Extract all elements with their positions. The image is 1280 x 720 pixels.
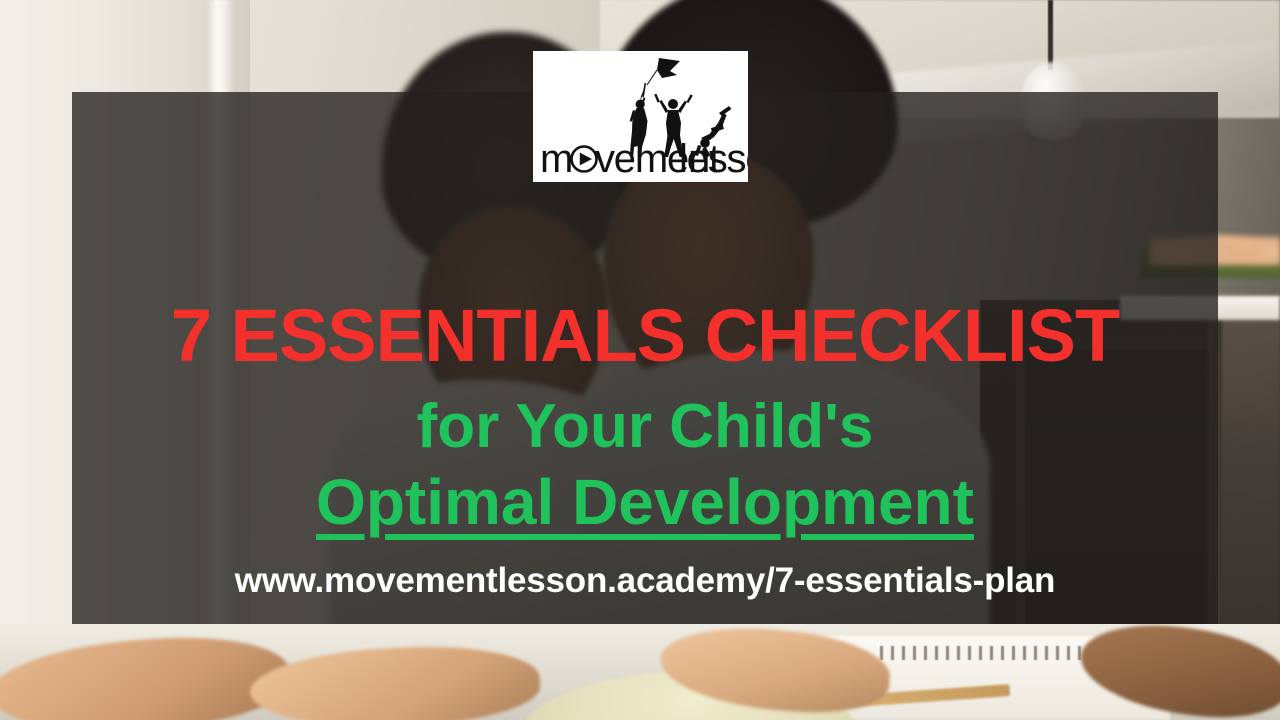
kitchen-cabinet-right xyxy=(1222,318,1280,660)
banner-stage: m vement lesson 7 ESSENTIALS CHECKLIST f… xyxy=(0,0,1280,720)
headline-primary: 7 ESSENTIALS CHECKLIST xyxy=(171,299,1119,373)
headline-secondary: for Your Child's xyxy=(417,395,874,458)
headline-tertiary-underlined: Optimal Development xyxy=(316,470,974,535)
headline-block: 7 ESSENTIALS CHECKLIST for Your Child's … xyxy=(72,92,1218,624)
pendant-lamp-cord xyxy=(1048,0,1053,70)
cta-url[interactable]: www.movementlesson.academy/7-essentials-… xyxy=(235,562,1056,601)
